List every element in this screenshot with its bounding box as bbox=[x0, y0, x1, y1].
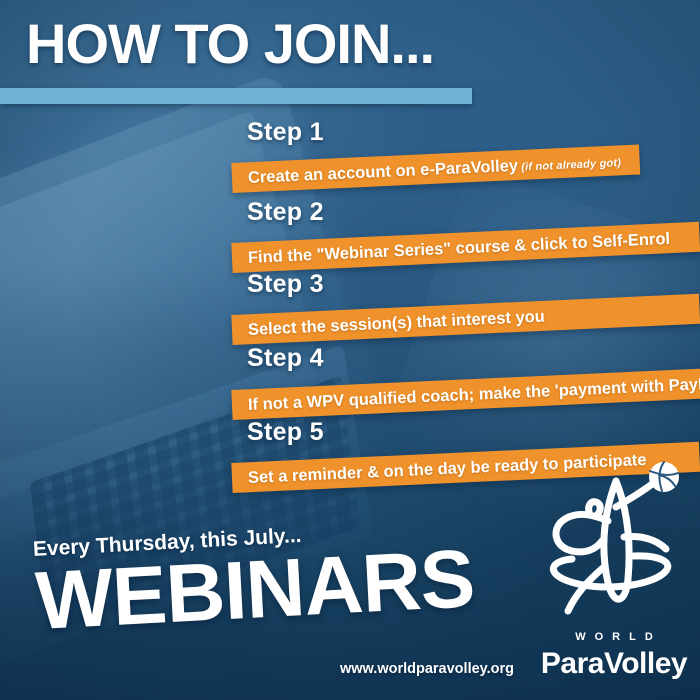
poster: HOW TO JOIN... Step 1 Create an account … bbox=[0, 0, 700, 700]
step-description-text: If not a WPV qualified coach; make the '… bbox=[248, 374, 700, 414]
step-label: Step 5 bbox=[247, 420, 324, 445]
step-label: Step 3 bbox=[247, 272, 324, 297]
step-description-note: (if not already got) bbox=[518, 157, 622, 174]
volleyball-icon bbox=[649, 462, 679, 492]
step-description: Find the "Webinar Series" course & click… bbox=[247, 224, 670, 273]
website-url[interactable]: www.worldparavolley.org bbox=[340, 661, 514, 677]
step-label: Step 2 bbox=[247, 200, 324, 225]
step-description-text: Create an account on e-ParaVolley bbox=[248, 157, 519, 187]
logo-paravolley-text: ParaVolley bbox=[538, 647, 690, 681]
paravolley-figure-icon bbox=[538, 455, 690, 623]
world-paravolley-logo: WORLD ParaVolley bbox=[538, 455, 690, 685]
step-description: If not a WPV qualified coach; make the '… bbox=[247, 368, 700, 420]
step-description-text: Select the session(s) that interest you bbox=[248, 308, 546, 339]
logo-world-text: WORLD bbox=[538, 631, 690, 643]
step-label: Step 1 bbox=[247, 120, 324, 145]
step-label: Step 4 bbox=[247, 346, 324, 371]
step-description-text: Find the "Webinar Series" course & click… bbox=[248, 230, 671, 267]
step-description: Select the session(s) that interest you bbox=[247, 302, 545, 345]
